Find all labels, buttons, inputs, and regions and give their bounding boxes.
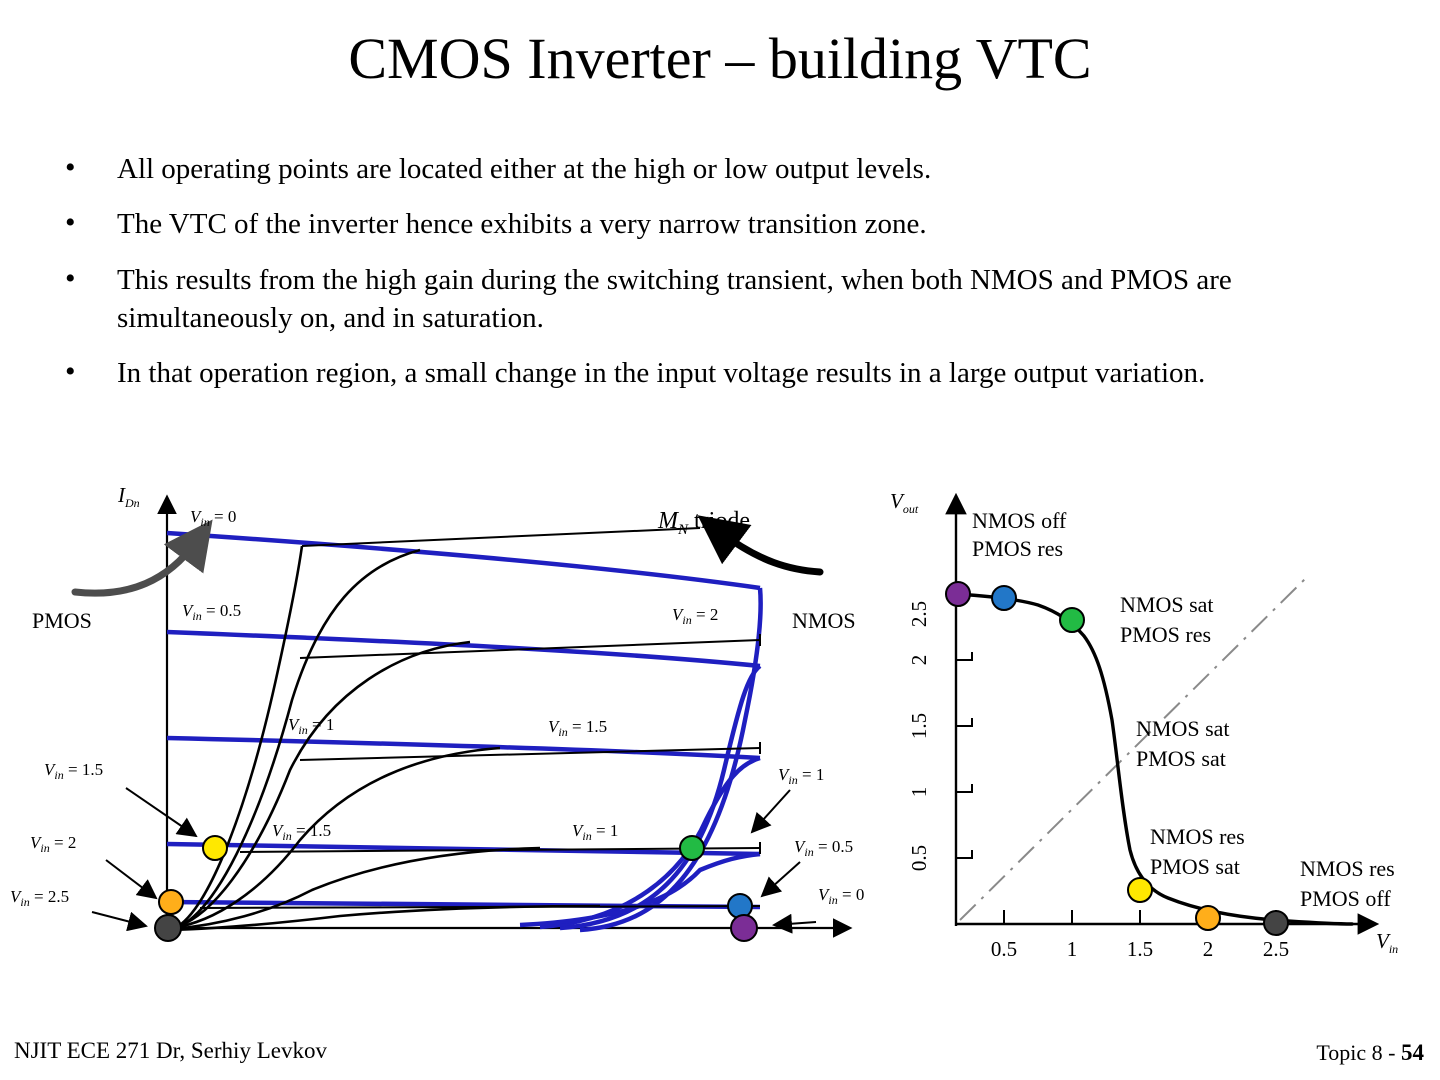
callout-left-vin-2: Vin = 2 (30, 833, 76, 855)
pmos-label: PMOS (32, 608, 92, 633)
region-label-5-line2: PMOS off (1300, 886, 1391, 911)
list-item: • In that operation region, a small chan… (55, 354, 1375, 392)
footer-left: NJIT ECE 271 Dr, Serhiy Levkov (14, 1038, 327, 1064)
region-label-1-line2: PMOS res (972, 536, 1063, 561)
operating-point-vin-0[interactable] (731, 915, 757, 941)
y-axis-label: IDn (117, 483, 140, 510)
shelf-mn-triode (302, 528, 700, 546)
list-item: • All operating points are located eithe… (55, 150, 1375, 188)
callout-arrow-right-vin-0-icon (774, 922, 816, 925)
bullet-marker-icon: • (65, 259, 76, 299)
slide-canvas: CMOS Inverter – building VTC • All opera… (0, 0, 1440, 1080)
vtc-ytick-1: 1 (907, 787, 931, 798)
callout-arrow-vin-1p5-icon (126, 788, 196, 836)
vtc-chart: Vout Vin 2.5 2 1.5 (868, 470, 1440, 970)
vtc-ytick-1p5: 1.5 (907, 713, 931, 739)
figures-container: IDn (0, 470, 1440, 990)
list-item-text: This results from the high gain during t… (117, 264, 1232, 334)
vtc-point-vin-0[interactable] (946, 582, 970, 606)
vtc-y-ticks (956, 652, 972, 858)
list-item: • This results from the high gain during… (55, 261, 1375, 338)
vtc-point-vin-2[interactable] (1196, 906, 1220, 930)
nmos-label-vin-2: Vin = 2 (672, 605, 718, 627)
nmos-pointer-arrow-icon (720, 532, 820, 572)
bullet-list: • All operating points are located eithe… (55, 150, 1375, 409)
vtc-ytick-0p5: 0.5 (907, 845, 931, 871)
region-label-2-line2: PMOS res (1120, 622, 1211, 647)
vtc-xtick-0p5: 0.5 (991, 937, 1017, 961)
nmos-label: NMOS (792, 608, 856, 633)
footer-right: Topic 8 - 54 (1316, 1040, 1424, 1066)
pmos-curve-vin-0p5 (167, 632, 760, 666)
vtc-point-vin-1p5[interactable] (1128, 878, 1152, 902)
operating-point-vin-2p5[interactable] (155, 915, 181, 941)
region-label-3-line2: PMOS sat (1136, 746, 1226, 771)
pmos-curve-vin-0 (167, 533, 760, 588)
region-label-2-line1: NMOS sat (1120, 592, 1214, 617)
callout-left-vin-2p5: Vin = 2.5 (10, 887, 69, 909)
callout-arrow-right-vin-0p5-icon (762, 862, 800, 896)
operating-point-vin-1[interactable] (680, 836, 704, 860)
pmos-label-vin-1: Vin = 1 (288, 715, 334, 737)
callout-right-vin-0p5: Vin = 0.5 (794, 837, 853, 859)
page-title: CMOS Inverter – building VTC (0, 30, 1440, 88)
vtc-ytick-2: 2 (907, 655, 931, 666)
vtc-point-vin-2p5[interactable] (1264, 911, 1288, 935)
list-item: • The VTC of the inverter hence exhibits… (55, 205, 1375, 243)
region-label-1-line1: NMOS off (972, 508, 1067, 533)
nmos-curve-vin-0p5 (172, 848, 540, 929)
bullet-marker-icon: • (65, 352, 76, 392)
operating-point-vin-1p5[interactable] (203, 836, 227, 860)
slide-number: 54 (1401, 1040, 1424, 1065)
pmos-pointer-arrow-icon (75, 542, 196, 593)
list-item-text: In that operation region, a small change… (117, 357, 1205, 389)
vtc-xtick-2p5: 2.5 (1263, 937, 1289, 961)
callout-arrow-right-vin-1-icon (752, 790, 790, 832)
bullet-marker-icon: • (65, 148, 76, 188)
nmos-label-vin-1p5: Vin = 1.5 (548, 717, 607, 739)
vtc-y-axis-label: Vout (890, 489, 919, 516)
operating-point-vin-0p5[interactable] (728, 894, 752, 918)
region-label-4-line1: NMOS res (1150, 824, 1245, 849)
vtc-xtick-1: 1 (1067, 937, 1078, 961)
pmos-label-vin-0: Vin = 0 (190, 507, 236, 529)
region-label-4-line2: PMOS sat (1150, 854, 1240, 879)
vtc-point-vin-1[interactable] (1060, 608, 1084, 632)
load-line-chart: IDn (0, 470, 880, 970)
list-item-text: All operating points are located either … (117, 153, 931, 185)
region-label-5-line1: NMOS res (1300, 856, 1395, 881)
pmos-label-vin-1p5: Vin = 1.5 (272, 821, 331, 843)
vtc-x-axis-label: Vin (1376, 929, 1398, 956)
vtc-point-vin-0p5[interactable] (992, 586, 1016, 610)
footer-topic-label: Topic 8 - (1316, 1040, 1401, 1065)
bullet-marker-icon: • (65, 203, 76, 243)
vtc-region-labels: NMOS off PMOS res NMOS sat PMOS res NMOS… (972, 508, 1395, 911)
callout-right-vin-0: Vin = 0 (818, 885, 864, 907)
callout-arrow-vin-2p5-icon (92, 912, 146, 926)
vtc-xtick-2: 2 (1203, 937, 1214, 961)
callout-right-vin-1: Vin = 1 (778, 765, 824, 787)
operating-point-vin-2[interactable] (159, 890, 183, 914)
callout-arrow-vin-2-icon (106, 860, 156, 898)
pmos-label-vin-0p5: Vin = 0.5 (182, 601, 241, 623)
vtc-xtick-1p5: 1.5 (1127, 937, 1153, 961)
list-item-text: The VTC of the inverter hence exhibits a… (117, 208, 927, 240)
nmos-label-vin-1-mid: Vin = 1 (572, 821, 618, 843)
pmos-sat-tail-vin-0p5 (560, 666, 760, 928)
vtc-ytick-2p5: 2.5 (907, 601, 931, 627)
region-label-3-line1: NMOS sat (1136, 716, 1230, 741)
mn-triode-label: MN triode (657, 508, 750, 538)
callout-left-vin-1p5: Vin = 1.5 (44, 760, 103, 782)
